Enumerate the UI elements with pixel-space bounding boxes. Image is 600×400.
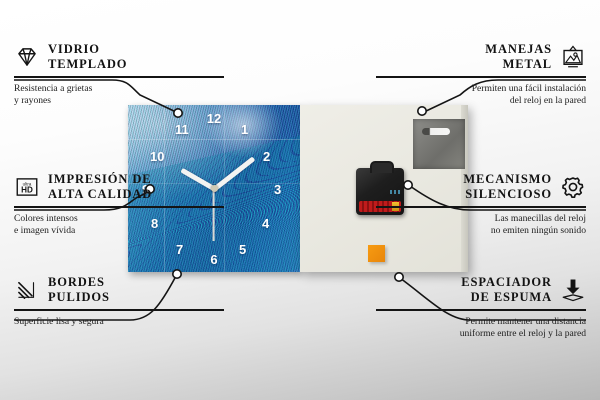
feature-title-line1: VIDRIO bbox=[48, 42, 100, 56]
feature-divider bbox=[376, 206, 586, 208]
gear-icon bbox=[560, 174, 586, 200]
feature-desc-line2: del reloj en la pared bbox=[510, 95, 586, 106]
feature-manejas-metal: MANEJASMETAL Permiten una fácil instalac… bbox=[376, 42, 586, 107]
feature-divider bbox=[14, 206, 224, 208]
feature-espaciador-espuma: ESPACIADORDE ESPUMA Permite mantener una… bbox=[376, 275, 586, 340]
feature-mecanismo-silencioso: MECANISMOSILENCIOSO Las manecillas del r… bbox=[376, 172, 586, 237]
feature-divider bbox=[14, 309, 224, 311]
feature-desc-line1: Las manecillas del reloj bbox=[495, 213, 586, 224]
feature-bordes-pulidos: BORDESPULIDOS Superficie lisa y segura bbox=[14, 275, 224, 328]
feature-desc-line1: Colores intensos bbox=[14, 213, 78, 224]
feature-desc-line2: e imagen vívida bbox=[14, 225, 75, 236]
feature-title-line1: MANEJAS bbox=[485, 42, 552, 56]
feature-title-line1: IMPRESIÓN DE bbox=[48, 172, 152, 186]
feature-title-line2: PULIDOS bbox=[48, 290, 110, 304]
feature-divider bbox=[376, 309, 586, 311]
feature-divider bbox=[376, 76, 586, 78]
feature-divider bbox=[14, 76, 224, 78]
connector-marker-vidrio bbox=[174, 109, 182, 117]
feature-desc-line2: y rayones bbox=[14, 95, 51, 106]
feature-desc-line1: Permite mantener una distancia bbox=[465, 316, 586, 327]
feature-desc-line1: Superficie lisa y segura bbox=[14, 316, 104, 327]
feature-title-line2: DE ESPUMA bbox=[471, 290, 552, 304]
feature-title-line2: SILENCIOSO bbox=[465, 187, 552, 201]
feature-desc-line2: uniforme entre el reloj y la pared bbox=[460, 328, 586, 339]
feature-desc-line1: Permiten una fácil instalación bbox=[472, 83, 586, 94]
arrow-down-spacer-icon bbox=[560, 277, 586, 303]
feature-title-line2: TEMPLADO bbox=[48, 57, 127, 71]
feature-desc-line2: no emiten ningún sonido bbox=[491, 225, 586, 236]
connector-marker-manejas bbox=[418, 107, 426, 115]
feature-title-line1: BORDES bbox=[48, 275, 105, 289]
ultra-hd-icon: ultra HD bbox=[14, 174, 40, 200]
feature-title-line2: ALTA CALIDAD bbox=[48, 187, 152, 201]
feature-vidrio-templado: VIDRIOTEMPLADO Resistencia a grietasy ra… bbox=[14, 42, 224, 107]
feature-title-line2: METAL bbox=[503, 57, 552, 71]
diamond-icon bbox=[14, 44, 40, 70]
wall-hanging-picture-icon bbox=[560, 44, 586, 70]
polished-edges-icon bbox=[14, 277, 40, 303]
feature-desc-line1: Resistencia a grietas bbox=[14, 83, 92, 94]
ultra-hd-icon-large-text: HD bbox=[21, 185, 33, 194]
infographic-canvas: 12 1 2 3 4 5 6 7 8 9 10 11 bbox=[0, 0, 600, 400]
feature-impresion-alta-calidad: ultra HD IMPRESIÓN DEALTA CALIDAD Colore… bbox=[14, 172, 224, 237]
feature-title-line1: ESPACIADOR bbox=[461, 275, 552, 289]
feature-title-line1: MECANISMO bbox=[463, 172, 552, 186]
